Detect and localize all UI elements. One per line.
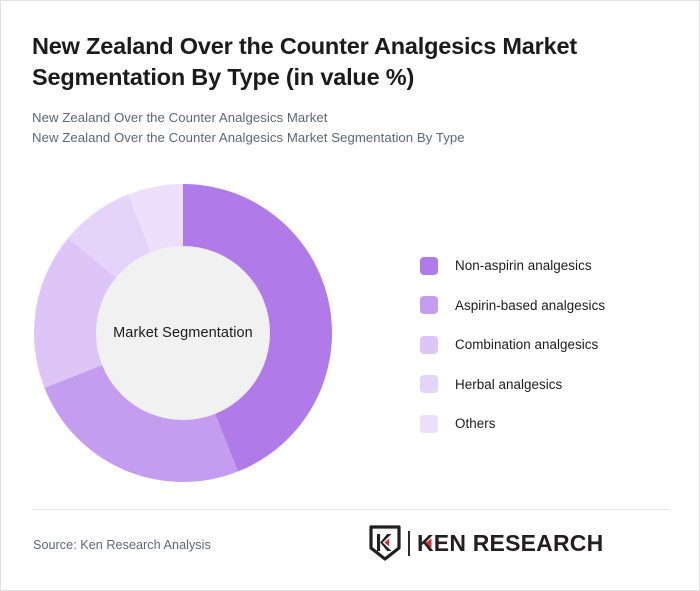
- legend-swatch-icon: [420, 257, 438, 275]
- legend-item[interactable]: Non-aspirin analgesics: [420, 246, 605, 286]
- chart-header: New Zealand Over the Counter Analgesics …: [32, 31, 652, 148]
- brand-wordmark: KEN RESEARCH: [417, 530, 669, 557]
- legend-label: Combination analgesics: [455, 337, 598, 352]
- legend-item[interactable]: Others: [420, 404, 605, 444]
- legend-item[interactable]: Combination analgesics: [420, 325, 605, 365]
- legend-swatch-icon: [420, 415, 438, 433]
- brand-divider: [408, 531, 410, 556]
- subtitle-block: New Zealand Over the Counter Analgesics …: [32, 108, 652, 148]
- source-note: Source: Ken Research Analysis: [33, 538, 211, 552]
- legend-swatch-icon: [420, 375, 438, 393]
- legend-label: Herbal analgesics: [455, 377, 562, 392]
- page-title: New Zealand Over the Counter Analgesics …: [32, 31, 652, 94]
- brand-logo: KEN RESEARCH: [368, 525, 669, 561]
- subtitle-line-1: New Zealand Over the Counter Analgesics …: [32, 108, 652, 128]
- chart-area: Market Segmentation Non-aspirin analgesi…: [1, 161, 700, 501]
- legend-item[interactable]: Aspirin-based analgesics: [420, 286, 605, 326]
- subtitle-line-2: New Zealand Over the Counter Analgesics …: [32, 128, 652, 148]
- legend-swatch-icon: [420, 296, 438, 314]
- svg-text:KEN RESEARCH: KEN RESEARCH: [417, 530, 603, 556]
- donut-svg: [34, 184, 332, 482]
- legend-item[interactable]: Herbal analgesics: [420, 365, 605, 405]
- ken-research-shield-icon: [368, 525, 402, 561]
- legend-label: Others: [455, 416, 496, 431]
- donut-hole: [96, 246, 270, 420]
- legend-label: Aspirin-based analgesics: [455, 298, 605, 313]
- donut-chart: Market Segmentation: [34, 184, 332, 482]
- legend-label: Non-aspirin analgesics: [455, 258, 592, 273]
- chart-legend: Non-aspirin analgesicsAspirin-based anal…: [420, 246, 605, 444]
- chart-card: New Zealand Over the Counter Analgesics …: [0, 0, 700, 591]
- legend-swatch-icon: [420, 336, 438, 354]
- footer-divider: [32, 509, 670, 510]
